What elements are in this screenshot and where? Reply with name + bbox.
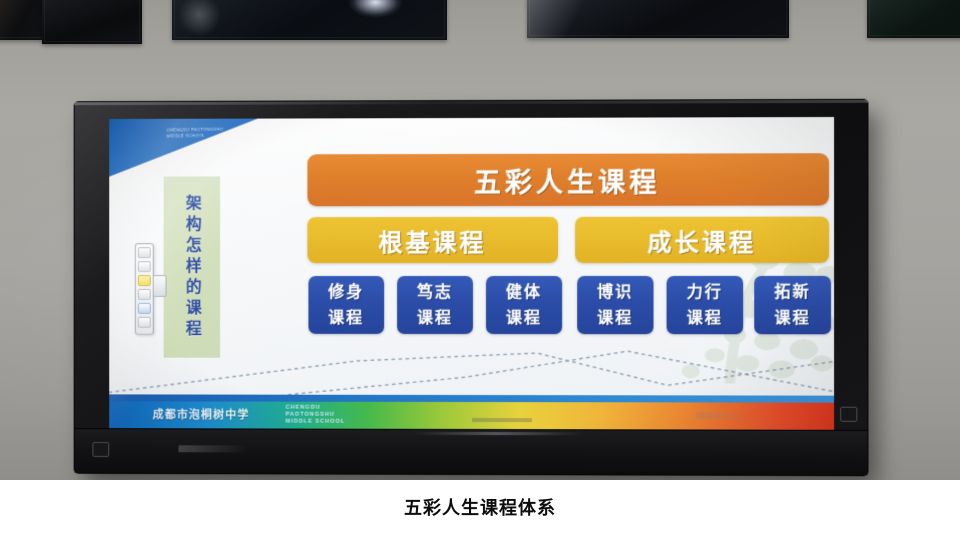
diagram-level3-box-4: 力行 课程 — [667, 276, 744, 334]
diagram-level3-box-1: 笃志 课程 — [397, 276, 473, 334]
diagram-level2-box-0: 根基课程 — [307, 217, 558, 263]
annotation-toolbar[interactable] — [135, 243, 154, 335]
wall-poster-2 — [42, 0, 142, 44]
diagram-level3-box-4-line2: 课程 — [687, 305, 723, 331]
question-panel: 架构怎样的课程 — [164, 176, 220, 357]
wall-poster-4 — [527, 0, 789, 38]
pointer-icon[interactable] — [138, 261, 151, 272]
diagram-level3-box-0-line1: 修身 — [328, 279, 364, 305]
diagram-level3-box-3-line2: 课程 — [597, 305, 633, 331]
diagram-level3-box-2-line2: 课程 — [506, 305, 542, 331]
wall-poster-3 — [172, 0, 447, 40]
color-icon[interactable] — [138, 317, 151, 328]
diagram-root-box: 五彩人生课程 — [307, 153, 829, 206]
pen-icon[interactable] — [138, 247, 151, 258]
display-brand-logo — [178, 445, 247, 452]
display-speaker-grille — [472, 418, 532, 422]
wall-poster-5 — [867, 0, 960, 38]
display-bottom-bezel — [75, 428, 868, 475]
display-port-right-icon — [840, 407, 857, 422]
eraser-icon[interactable] — [138, 289, 151, 300]
diagram-level3-box-5-line1: 拓新 — [774, 279, 810, 305]
school-name-cn: 成都市泡桐树中学 — [153, 406, 250, 422]
diagram-level3-box-3-line1: 博识 — [597, 279, 633, 305]
diagram-level3-box-2: 健体 课程 — [486, 276, 562, 334]
toolbar-drag-handle[interactable] — [153, 275, 167, 297]
figure-caption: 五彩人生课程体系 — [0, 480, 960, 540]
diagram-level3-box-0-line2: 课程 — [328, 305, 364, 331]
presentation-slide: CHENGDU PAOTONGSHU MIDDLE SCHOOL — [109, 117, 834, 430]
highlighter-icon[interactable] — [138, 275, 151, 286]
school-name-en: CHENGDU PAOTONGSHU MIDDLE SCHOOL — [286, 405, 346, 426]
diagram-level2-box-1: 成长课程 — [575, 217, 829, 263]
diagram-level3-box-5-line2: 课程 — [774, 305, 810, 331]
diagram-level3-box-5: 拓新 课程 — [754, 276, 831, 334]
question-panel-text: 架构怎样的课程 — [180, 194, 204, 340]
corner-note-text: CHENGDU PAOTONGSHU MIDDLE SCHOOL — [166, 126, 242, 139]
display-screen[interactable]: CHENGDU PAOTONGSHU MIDDLE SCHOOL — [109, 117, 834, 430]
diagram-level3-box-4-line1: 力行 — [687, 279, 723, 305]
screenshot-root: CHENGDU PAOTONGSHU MIDDLE SCHOOL — [0, 0, 960, 540]
figure-caption-text: 五彩人生课程体系 — [404, 494, 556, 520]
diagram-level3-box-0: 修身 课程 — [308, 276, 384, 334]
classroom-photo: CHENGDU PAOTONGSHU MIDDLE SCHOOL — [0, 0, 960, 480]
display-model-badge — [696, 412, 746, 418]
display-ir-strip — [412, 432, 582, 435]
diagram-level3-box-2-line1: 健体 — [506, 279, 542, 305]
flat-panel-display: CHENGDU PAOTONGSHU MIDDLE SCHOOL — [75, 100, 868, 475]
diagram-level3-box-1-line1: 笃志 — [417, 279, 453, 305]
diagram-level3-box-1-line2: 课程 — [417, 305, 453, 331]
diagram-level3-box-3: 博识 课程 — [577, 276, 653, 334]
display-port-left-icon — [92, 442, 109, 457]
shape-icon[interactable] — [138, 303, 151, 314]
